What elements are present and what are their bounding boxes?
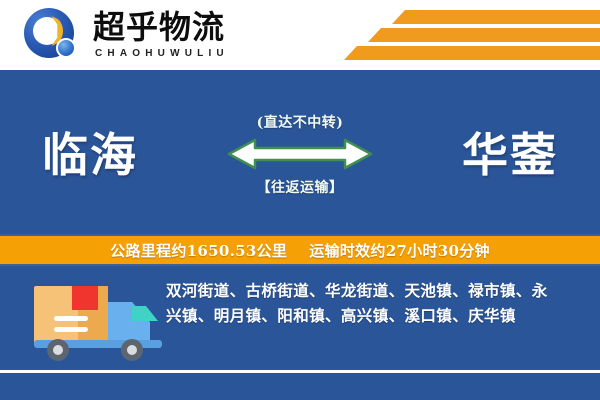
stripe-1 xyxy=(392,10,600,24)
delivery-truck-icon xyxy=(30,278,170,364)
bottom-divider xyxy=(0,370,600,373)
route-middle: (直达不中转) 【往返运输】 xyxy=(200,108,400,197)
brand-name-en: CHAOHUWULIU xyxy=(93,48,229,59)
brand-text-block: 超乎物流 CHAOHUWULIU xyxy=(93,11,229,59)
decorative-stripes xyxy=(300,8,600,66)
origin-city: 临海 xyxy=(0,119,200,185)
round-trip-note: 【往返运输】 xyxy=(257,177,344,197)
logo-dot-shape xyxy=(56,38,76,58)
poster-header: 超乎物流 CHAOHUWULIU xyxy=(0,0,600,70)
stripe-3 xyxy=(344,46,600,60)
logistics-route-poster: 超乎物流 CHAOHUWULIU 临海 (直达不中转) 【往返运输】 华蓥 公路… xyxy=(0,0,600,400)
distance-label: 公路里程约1650.53公里 xyxy=(110,240,287,261)
chaohu-circle-logo-icon xyxy=(22,6,84,64)
coverage-district-list: 双河街道、古桥街道、华龙街道、天池镇、禄市镇、永 兴镇、明月镇、阳和镇、高兴镇、… xyxy=(166,278,586,328)
coverage-section: 双河街道、古桥街道、华龙街道、天池镇、禄市镇、永 兴镇、明月镇、阳和镇、高兴镇、… xyxy=(0,266,600,400)
coverage-line-1: 双河街道、古桥街道、华龙街道、天池镇、禄市镇、永 xyxy=(166,278,586,303)
coverage-line-2: 兴镇、明月镇、阳和镇、高兴镇、溪口镇、庆华镇 xyxy=(166,303,586,328)
route-section: 临海 (直达不中转) 【往返运输】 华蓥 xyxy=(0,70,600,234)
route-info-bar: 公路里程约1650.53公里 运输时效约27小时30分钟 xyxy=(0,234,600,266)
stripe-2 xyxy=(368,28,600,42)
direct-route-note: (直达不中转) xyxy=(257,112,344,132)
destination-city: 华蓥 xyxy=(400,119,600,185)
double-headed-arrow-icon xyxy=(225,137,375,171)
brand-name-cn: 超乎物流 xyxy=(93,11,229,45)
duration-label: 运输时效约27小时30分钟 xyxy=(309,240,490,261)
brand-block: 超乎物流 CHAOHUWULIU xyxy=(22,6,229,64)
